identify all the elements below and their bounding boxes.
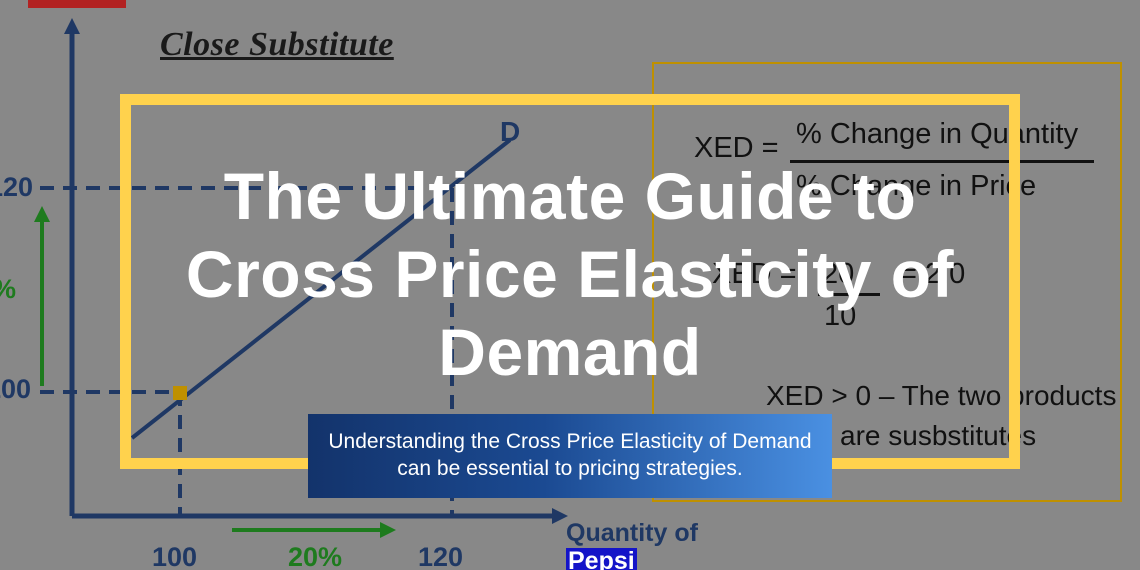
x-tick-100: 100 bbox=[152, 542, 197, 570]
page-title: The Ultimate Guide to Cross Price Elasti… bbox=[120, 158, 1020, 392]
x-axis-caption: Quantity of Pepsi bbox=[566, 520, 698, 570]
quantity-change-percent: 20% bbox=[288, 542, 342, 570]
slide-canvas: Close Substitute D 120 100 100 120 % 20%… bbox=[0, 0, 1140, 570]
y-tick-100: 100 bbox=[0, 374, 31, 405]
right-arrow-icon bbox=[380, 522, 396, 538]
x-tick-120: 120 bbox=[418, 542, 463, 570]
x-axis-caption-line2: Pepsi bbox=[566, 548, 637, 570]
y-axis-arrow-icon bbox=[64, 18, 80, 34]
up-arrow-icon bbox=[34, 206, 50, 222]
x-axis-caption-line1: Quantity of bbox=[566, 519, 698, 547]
y-tick-120: 120 bbox=[0, 172, 33, 203]
chart-heading: Close Substitute bbox=[160, 26, 394, 64]
subtitle-text: Understanding the Cross Price Elasticity… bbox=[308, 429, 832, 483]
subtitle-banner: Understanding the Cross Price Elasticity… bbox=[308, 414, 832, 498]
price-change-percent: % bbox=[0, 274, 16, 305]
